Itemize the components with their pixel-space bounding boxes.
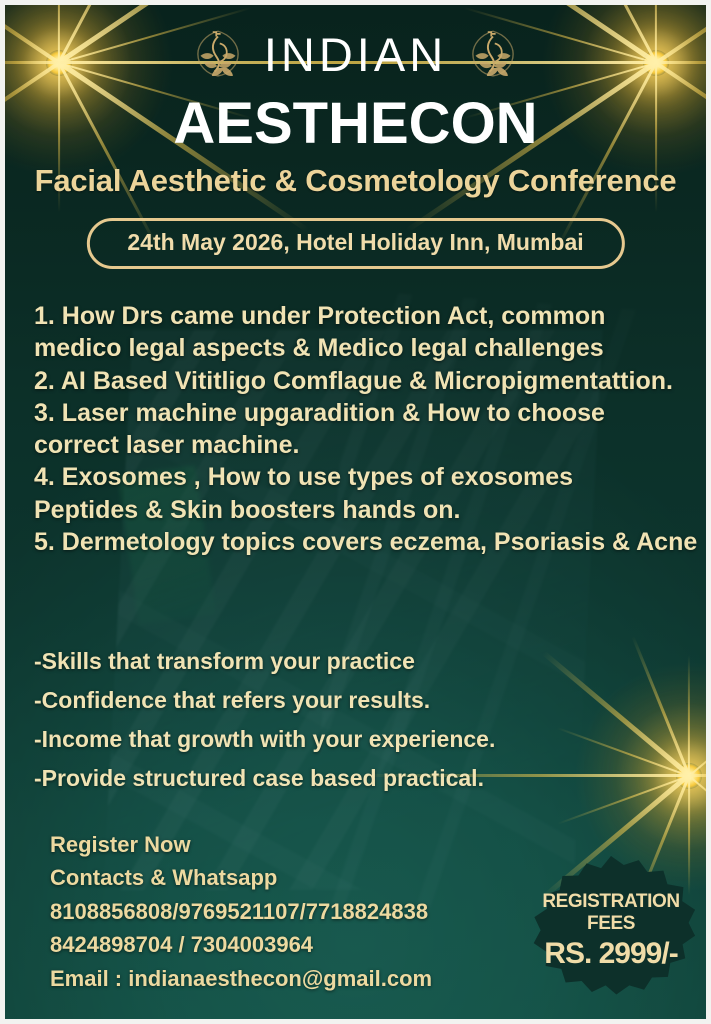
topic-line: 2. AI Based Vititligo Comflague & Microp… [34, 365, 691, 397]
topic-line: 4. Exosomes , How to use types of exosom… [34, 461, 691, 493]
topics-list: 1. How Drs came under Protection Act, co… [34, 300, 691, 558]
badge-text: REGISTRATION FEES RS. 2999/- [527, 856, 695, 1004]
brand-main-title: AESTHECON [0, 95, 711, 153]
topic-line: medico legal aspects & Medico legal chal… [34, 332, 691, 364]
registration-fee-badge: REGISTRATION FEES RS. 2999/- [527, 856, 695, 1004]
emblem-right-icon [465, 26, 521, 82]
topic-line: 5. Dermetology topics covers eczema, Pso… [34, 526, 691, 558]
brand-top-text: INDIAN [264, 31, 447, 78]
topic-line: Peptides & Skin boosters hands on. [34, 494, 691, 526]
badge-line-1: REGISTRATION [542, 892, 679, 911]
benefit-line: -Skills that transform your practice [34, 642, 691, 681]
poster-subtitle: Facial Aesthetic & Cosmetology Conferenc… [0, 163, 711, 199]
contact-block: Register Now Contacts & Whatsapp 8108856… [50, 828, 432, 995]
register-now-label: Register Now [50, 828, 432, 861]
email-line[interactable]: Email : indianaesthecon@gmail.com [50, 962, 432, 995]
topic-line: 1. How Drs came under Protection Act, co… [34, 300, 691, 332]
topic-line: correct laser machine. [34, 429, 691, 461]
brand-row: INDIAN [0, 26, 711, 82]
contacts-label: Contacts & Whatsapp [50, 861, 432, 894]
date-venue-pill: 24th May 2026, Hotel Holiday Inn, Mumbai [86, 218, 624, 269]
phone-numbers-line2[interactable]: 8424898704 / 7304003964 [50, 928, 432, 961]
benefits-list: -Skills that transform your practice-Con… [34, 642, 691, 798]
badge-line-2: FEES [587, 914, 635, 933]
benefit-line: -Income that growth with your experience… [34, 720, 691, 759]
badge-line-3: RS. 2999/- [544, 939, 677, 969]
benefit-line: -Confidence that refers your results. [34, 681, 691, 720]
topic-line: 3. Laser machine upgaradition & How to c… [34, 397, 691, 429]
conference-poster: INDIAN AESTHECON Facial Aesthetic & Cosm… [0, 0, 711, 1024]
phone-numbers-line1[interactable]: 8108856808/9769521107/7718824838 [50, 895, 432, 928]
emblem-left-icon [190, 26, 246, 82]
benefit-line: -Provide structured case based practical… [34, 759, 691, 798]
